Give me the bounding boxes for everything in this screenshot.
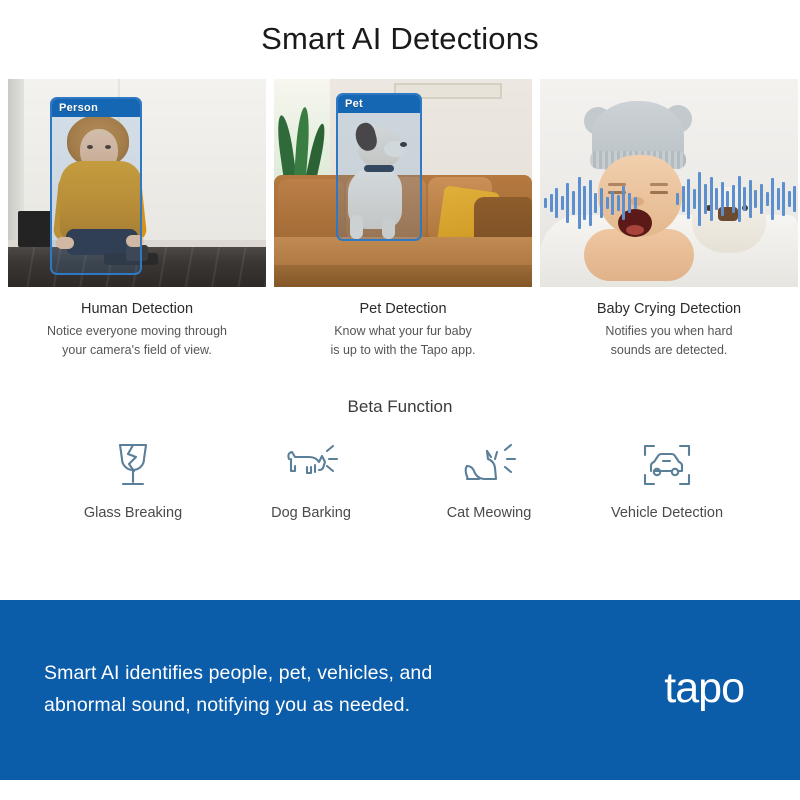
beta-item-vehicle-detection[interactable]: Vehicle Detection bbox=[578, 439, 756, 521]
waveform-bar bbox=[578, 177, 581, 229]
beta-label-cat-meowing: Cat Meowing bbox=[400, 505, 578, 521]
broken-glass-icon bbox=[44, 439, 222, 491]
promo-page: Smart AI Detections Person Human Detecti… bbox=[0, 0, 800, 800]
beta-item-glass-breaking[interactable]: Glass Breaking bbox=[44, 439, 222, 521]
waveform-bar bbox=[682, 186, 685, 212]
beta-label-vehicle-detection: Vehicle Detection bbox=[578, 505, 756, 521]
card-desc-pet: Know what your fur baby is up to with th… bbox=[274, 322, 532, 361]
card-desc-line1: Notice everyone moving through bbox=[8, 322, 266, 341]
bottom-banner: Smart AI identifies people, pet, vehicle… bbox=[0, 600, 800, 780]
waveform-bar bbox=[687, 179, 690, 219]
vehicle-focus-icon bbox=[578, 439, 756, 491]
card-desc-baby: Notifies you when hard sounds are detect… bbox=[540, 322, 798, 361]
detection-box-pet: Pet bbox=[336, 93, 422, 241]
waveform-bar bbox=[738, 176, 741, 222]
waveform-bar bbox=[721, 182, 724, 216]
waveform-bar bbox=[561, 196, 564, 210]
beta-function-heading: Beta Function bbox=[0, 397, 800, 417]
page-title: Smart AI Detections bbox=[0, 0, 800, 57]
feature-card-human: Person Human Detection Notice everyone m… bbox=[8, 79, 266, 361]
waveform-bar bbox=[617, 195, 620, 211]
waveform-bar bbox=[715, 188, 718, 210]
pet-detection-photo: Pet bbox=[274, 79, 532, 287]
waveform-bar bbox=[555, 188, 558, 218]
waveform-bar bbox=[583, 186, 586, 220]
banner-line2: abnormal sound, notifying you as needed. bbox=[44, 690, 432, 722]
waveform-bar bbox=[782, 182, 785, 216]
meowing-cat-icon bbox=[400, 439, 578, 491]
detection-box-person: Person bbox=[50, 97, 142, 275]
card-desc-line1: Notifies you when hard bbox=[540, 322, 798, 341]
waveform-bar bbox=[544, 198, 547, 208]
audio-waveform-right bbox=[676, 171, 798, 227]
waveform-bar bbox=[676, 193, 679, 205]
waveform-bar bbox=[698, 172, 701, 226]
waveform-bar bbox=[777, 188, 780, 210]
baby-crying-detection-photo bbox=[540, 79, 798, 287]
detection-box-label: Pet bbox=[338, 95, 420, 113]
waveform-bar bbox=[600, 188, 603, 218]
waveform-bar bbox=[550, 194, 553, 212]
tapo-logo: tapo bbox=[664, 667, 744, 710]
card-title-baby: Baby Crying Detection bbox=[540, 301, 798, 317]
waveform-bar bbox=[589, 180, 592, 226]
card-desc-line2: sounds are detected. bbox=[540, 341, 798, 360]
beta-function-list: Glass Breaking Dog Barking bbox=[0, 439, 800, 521]
waveform-bar bbox=[611, 191, 614, 215]
waveform-bar bbox=[566, 183, 569, 223]
beta-item-dog-barking[interactable]: Dog Barking bbox=[222, 439, 400, 521]
card-desc-human: Notice everyone moving through your came… bbox=[8, 322, 266, 361]
waveform-bar bbox=[766, 192, 769, 206]
waveform-bar bbox=[732, 185, 735, 213]
waveform-bar bbox=[594, 193, 597, 213]
beta-item-cat-meowing[interactable]: Cat Meowing bbox=[400, 439, 578, 521]
audio-waveform-left bbox=[544, 175, 637, 231]
card-desc-line2: is up to with the Tapo app. bbox=[274, 341, 532, 360]
card-title-human: Human Detection bbox=[8, 301, 266, 317]
waveform-bar bbox=[572, 191, 575, 215]
waveform-bar bbox=[606, 197, 609, 209]
waveform-bar bbox=[771, 178, 774, 220]
feature-cards: Person Human Detection Notice everyone m… bbox=[0, 57, 800, 361]
beta-label-dog-barking: Dog Barking bbox=[222, 505, 400, 521]
waveform-bar bbox=[704, 184, 707, 214]
waveform-bar bbox=[754, 190, 757, 208]
waveform-bar bbox=[726, 191, 729, 207]
waveform-bar bbox=[760, 184, 763, 214]
waveform-bar bbox=[693, 189, 696, 209]
banner-message: Smart AI identifies people, pet, vehicle… bbox=[44, 658, 432, 721]
human-detection-photo: Person bbox=[8, 79, 266, 287]
waveform-bar bbox=[628, 193, 631, 213]
waveform-bar bbox=[622, 186, 625, 220]
waveform-bar bbox=[634, 197, 637, 209]
feature-card-pet: Pet Pet Detection Know what your fur bab… bbox=[274, 79, 532, 361]
barking-dog-icon bbox=[222, 439, 400, 491]
banner-line1: Smart AI identifies people, pet, vehicle… bbox=[44, 658, 432, 690]
waveform-bar bbox=[793, 186, 796, 212]
feature-card-baby: Baby Crying Detection Notifies you when … bbox=[540, 79, 798, 361]
waveform-bar bbox=[743, 187, 746, 211]
beta-label-glass-breaking: Glass Breaking bbox=[44, 505, 222, 521]
card-title-pet: Pet Detection bbox=[274, 301, 532, 317]
waveform-bar bbox=[710, 177, 713, 221]
waveform-bar bbox=[749, 180, 752, 218]
waveform-bar bbox=[788, 191, 791, 207]
card-desc-line2: your camera's field of view. bbox=[8, 341, 266, 360]
card-desc-line1: Know what your fur baby bbox=[274, 322, 532, 341]
detection-box-label: Person bbox=[52, 99, 140, 117]
